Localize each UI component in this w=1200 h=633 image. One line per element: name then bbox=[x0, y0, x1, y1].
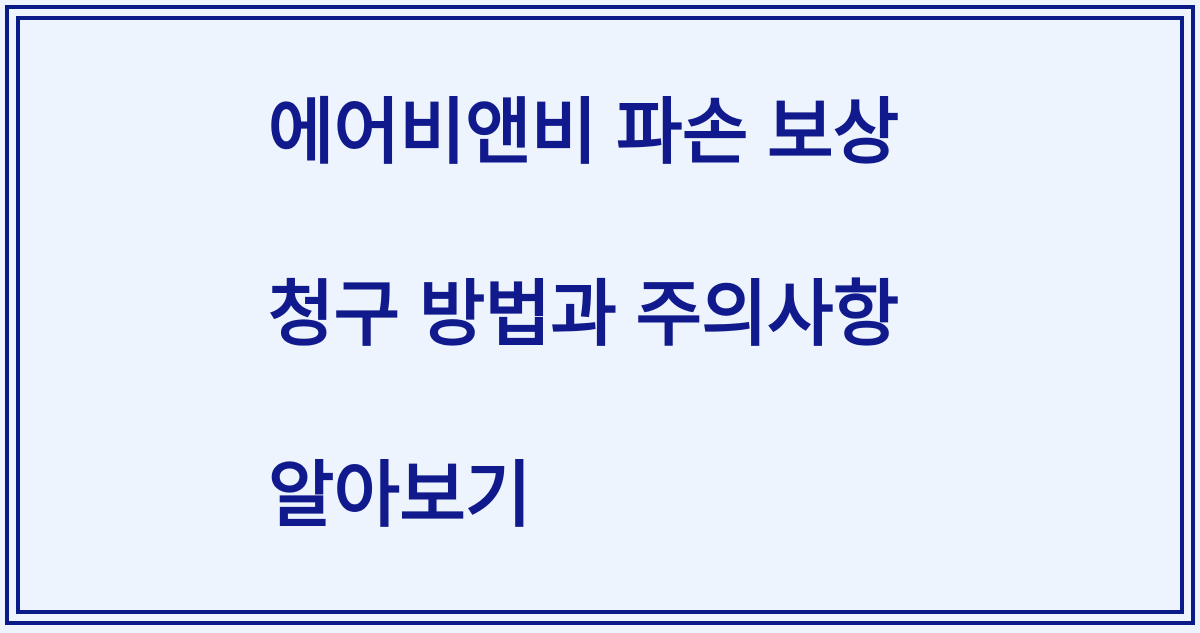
headline-block: 에어비앤비 파손 보상 청구 방법과 주의사항 알아보기 bbox=[268, 0, 932, 633]
page-title-line-1: 에어비앤비 파손 보상 bbox=[268, 88, 932, 179]
thumbnail-banner: 에어비앤비 파손 보상 청구 방법과 주의사항 알아보기 bbox=[0, 0, 1200, 630]
page-title-line-3: 알아보기 bbox=[268, 451, 932, 542]
page-title-line-2: 청구 방법과 주의사항 bbox=[268, 270, 932, 361]
page-title: 에어비앤비 파손 보상 청구 방법과 주의사항 알아보기 bbox=[268, 0, 932, 633]
